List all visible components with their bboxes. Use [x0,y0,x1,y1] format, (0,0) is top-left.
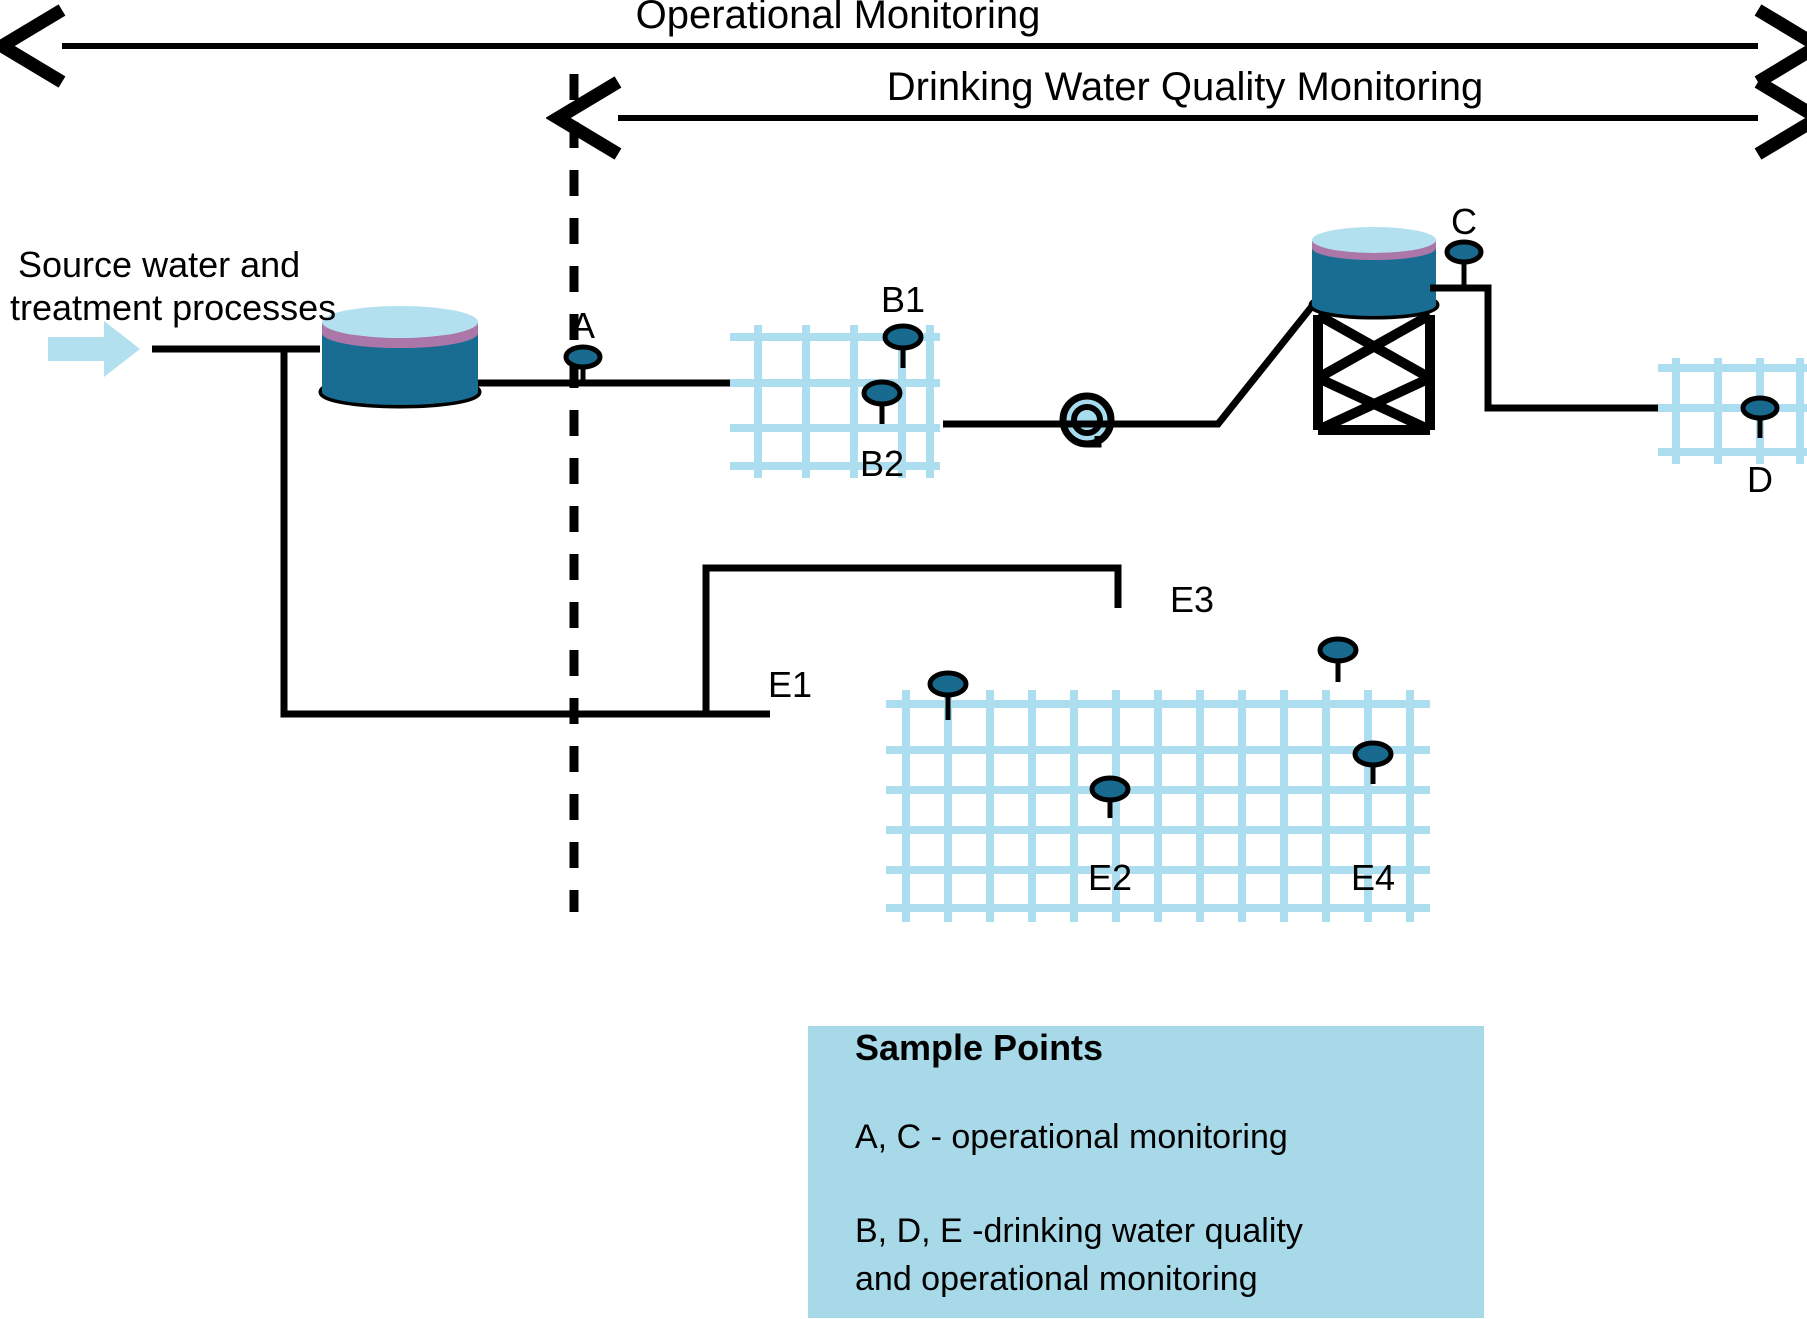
sample-point-E2[interactable] [1092,778,1128,818]
sample-point-E1-label: E1 [768,664,812,705]
sample-point-D[interactable] [1743,398,1777,438]
sample-point-C-label: C [1451,201,1477,242]
sample-point-D-label: D [1747,459,1773,500]
sample-point-E4[interactable] [1355,743,1391,784]
source-label-line2: treatment processes [10,287,336,328]
sample-point-E3[interactable] [1320,639,1356,682]
legend-title: Sample Points [855,1027,1103,1068]
drinking-water-monitoring-title: Drinking Water Quality Monitoring [887,65,1484,109]
sample-point-B1-label: B1 [881,279,925,320]
sample-point-E4-label: E4 [1351,857,1395,898]
sample-point-A-label: A [571,305,595,346]
sample-point-B1[interactable] [885,326,921,368]
pipe-tower-to-gridd [1430,288,1658,408]
sample-point-E1[interactable] [930,673,966,720]
operational-monitoring-title: Operational Monitoring [636,0,1041,37]
sample-point-B2[interactable] [864,382,900,424]
elevated-water-tower-icon [1312,227,1436,430]
sample-point-E2-label: E2 [1088,857,1132,898]
sample-point-B2-label: B2 [860,443,904,484]
water-system-diagram: A B1 B2 [0,0,1807,1319]
distribution-grid-e-icon [886,690,1430,922]
legend-line-bde-2: and operational monitoring [855,1260,1258,1298]
legend-line-ac: A, C - operational monitoring [855,1118,1288,1156]
legend-line-bde-1: B, D, E -drinking water quality [855,1212,1303,1250]
source-flow-arrow [48,321,140,377]
sample-point-C[interactable] [1447,242,1481,285]
source-label-line1: Source water and [18,244,300,285]
sample-point-E3-label: E3 [1170,579,1214,620]
distribution-grid-d-icon [1658,358,1807,464]
pump-icon [1060,396,1115,444]
diagram-canvas: A B1 B2 [0,0,1807,1319]
storage-tank-icon [322,306,478,405]
pipe-pump-to-tower [1115,290,1325,424]
